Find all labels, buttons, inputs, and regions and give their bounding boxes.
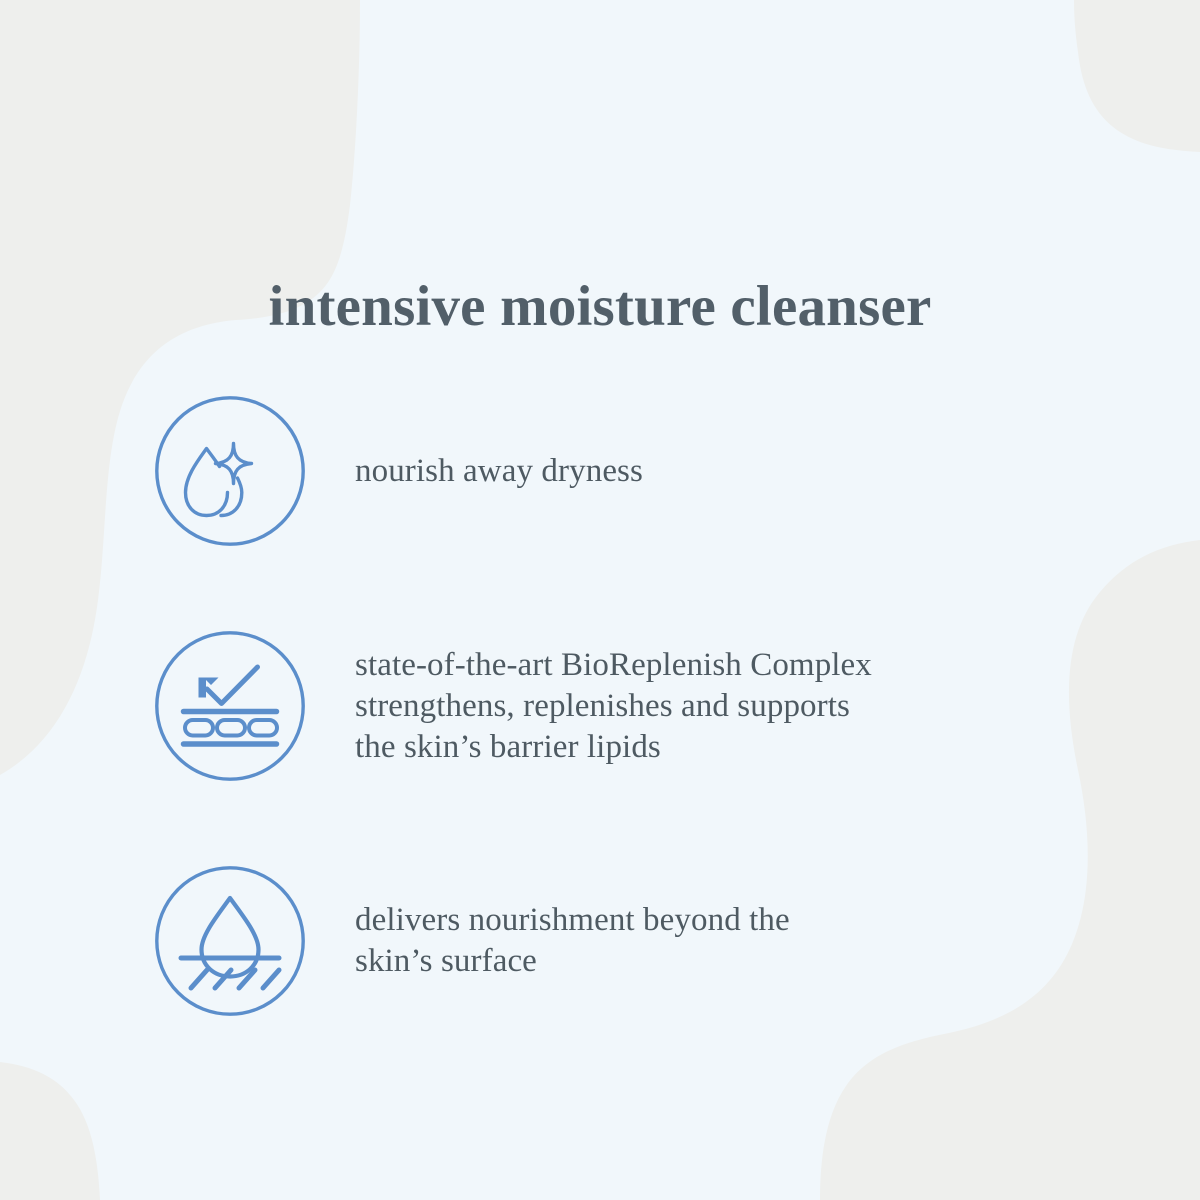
feature-item-nourish: nourish away dryness (155, 396, 1085, 546)
feature-text-line: the skin’s barrier lipids (355, 727, 1085, 768)
feature-item-bioreplenish: state-of-the-art BioReplenish Complex st… (155, 631, 1085, 781)
lipid-capsule (249, 720, 277, 736)
penetration-dash (191, 970, 207, 988)
icon-ring (157, 633, 303, 779)
feature-text-line: state-of-the-art BioReplenish Complex (355, 645, 1085, 686)
feature-text-delivery: delivers nourishment beyond the skin’s s… (305, 900, 1085, 982)
feature-text-line: delivers nourishment beyond the (355, 900, 1085, 941)
feature-item-delivery: delivers nourishment beyond the skin’s s… (155, 866, 1085, 1016)
content-layer: intensive moisture cleanser nourish away… (0, 0, 1200, 1200)
barrier-layers-rebound-arrow-icon (155, 631, 305, 781)
feature-text-line: skin’s surface (355, 941, 1085, 982)
droplet-shape (186, 449, 228, 516)
penetration-dash (263, 970, 279, 988)
droplet-penetrating-surface-icon (155, 866, 305, 1016)
droplet-sparkle-icon (155, 396, 305, 546)
icon-ring (157, 868, 303, 1014)
feature-text-bioreplenish: state-of-the-art BioReplenish Complex st… (305, 645, 1085, 768)
lipid-capsule (185, 720, 213, 736)
infographic-canvas: intensive moisture cleanser nourish away… (0, 0, 1200, 1200)
feature-list: nourish away dryness (0, 0, 1200, 1200)
sparkle-shape (216, 444, 252, 484)
lipid-capsule (217, 720, 245, 736)
feature-text-nourish: nourish away dryness (305, 451, 1085, 492)
rebound-ray (207, 667, 258, 704)
droplet-shape-right (221, 478, 242, 516)
feature-text-line: strengthens, replenishes and supports (355, 686, 1085, 727)
droplet-shape (202, 898, 259, 977)
feature-text-line: nourish away dryness (355, 451, 1085, 492)
